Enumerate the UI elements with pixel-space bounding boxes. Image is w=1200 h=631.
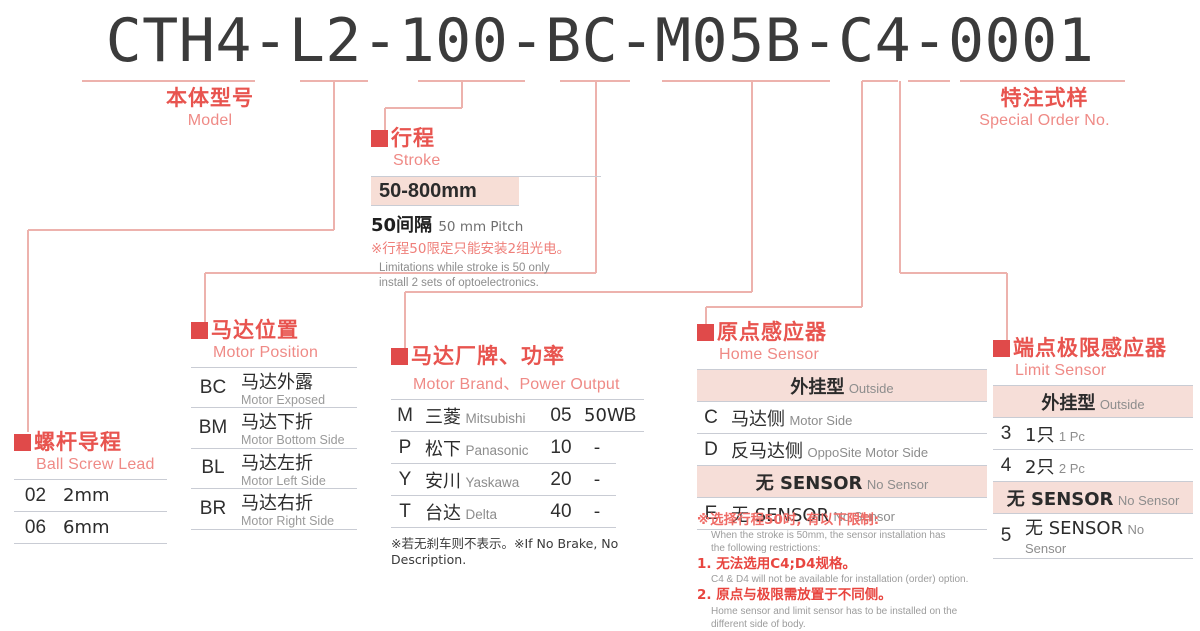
- brake-code-1: [616, 432, 644, 464]
- limit-sensor-group1-label: 外挂型 Outside: [993, 386, 1193, 418]
- home-sensor-value-1: 反马达侧 OppoSite Motor Side: [725, 434, 987, 466]
- home-sensor-group2-label: 无 SENSOR No Sensor: [697, 466, 987, 498]
- motor-brand-title-en: Motor Brand、Power Output: [413, 370, 661, 394]
- table-row: BR 马达右折 Motor Right Side: [191, 489, 357, 529]
- motor-brand-table: M 三菱 Mitsubishi 05 50W B P 松下 Panasonic …: [391, 399, 644, 528]
- stroke-title-cn: 行程: [391, 126, 435, 150]
- ball-screw-lead-code-1: 06: [14, 512, 57, 544]
- stroke-range: 50-800mm: [371, 177, 519, 206]
- code-segment-stroke: 100: [399, 6, 509, 76]
- motor-position-code-3: BR: [191, 489, 235, 529]
- home-sensor-note-2-cn: 2. 原点与极限需放置于不同侧。: [697, 587, 997, 605]
- stroke-pitch-en: 50 mm Pitch: [438, 219, 523, 235]
- block-motor-position: 马达位置 Motor Position BC 马达外露 Motor Expose…: [191, 320, 366, 530]
- motor-position-value-3: 马达右折 Motor Right Side: [235, 489, 357, 529]
- bullet-square-icon: [993, 340, 1010, 357]
- bullet-square-icon: [391, 348, 408, 365]
- bullet-square-icon: [371, 130, 388, 147]
- special-order-title-cn: 特注式样: [1001, 86, 1089, 110]
- limit-sensor-title-cn: 端点极限感应器: [1013, 336, 1167, 360]
- table-row: Y 安川 Yaskawa 20 -: [391, 464, 644, 496]
- motor-position-code-1: BM: [191, 408, 235, 448]
- ball-screw-lead-title: 螺杆导程: [14, 432, 179, 453]
- table-row: D 反马达侧 OppoSite Motor Side: [697, 434, 987, 466]
- home-sensor-title-en: Home Sensor: [719, 346, 997, 364]
- power-value-2: -: [578, 464, 616, 496]
- stroke-pitch-cn: 50间隔: [371, 215, 432, 236]
- block-limit-sensor: 端点极限感应器 Limit Sensor 外挂型 Outside 3 1只 1 …: [993, 338, 1200, 559]
- stroke-pitch: 50间隔 50 mm Pitch: [371, 211, 601, 237]
- home-sensor-note-title-cn: ※选择行程50时, 有以下限制:: [697, 512, 997, 529]
- stroke-note-en-line1: Limitations while stroke is 50 only: [379, 261, 601, 277]
- motor-position-value-2: 马达左折 Motor Left Side: [235, 448, 357, 488]
- stroke-title: 行程: [371, 128, 601, 149]
- code-segment-motor-position: BC: [545, 6, 618, 76]
- ball-screw-lead-code-0: 02: [14, 480, 57, 512]
- home-sensor-title-cn: 原点感应器: [717, 320, 827, 344]
- brake-code-3: [616, 496, 644, 528]
- motor-position-title-cn: 马达位置: [211, 318, 299, 342]
- code-segment-sensors: C4: [838, 6, 911, 76]
- power-value-3: -: [578, 496, 616, 528]
- brand-code-2: Y: [391, 464, 419, 496]
- home-sensor-code-1: D: [697, 434, 725, 466]
- code-separator: -: [508, 6, 545, 76]
- code-segment-lead: L2: [289, 6, 362, 76]
- code-segment-model: CTH4: [106, 6, 253, 76]
- stroke-note-cn: ※行程50限定只能安装2组光电。: [371, 241, 601, 259]
- code-separator: -: [618, 6, 655, 76]
- table-row: 06 6mm: [14, 512, 167, 544]
- limit-sensor-group-outside: 外挂型 Outside: [993, 386, 1193, 418]
- block-special-order: 特注式样 Special Order No.: [952, 88, 1137, 130]
- limit-sensor-value-1: 2只 2 Pc: [1019, 450, 1193, 482]
- brand-name-0: 三菱 Mitsubishi: [419, 400, 544, 432]
- motor-position-value-1: 马达下折 Motor Bottom Side: [235, 408, 357, 448]
- home-sensor-note-title-en: When the stroke is 50mm, the sensor inst…: [711, 529, 997, 555]
- code-segment-special-order: 0001: [948, 6, 1095, 76]
- limit-sensor-value-0: 1只 1 Pc: [1019, 418, 1193, 450]
- brand-name-2: 安川 Yaskawa: [419, 464, 544, 496]
- home-sensor-note-2-en: Home sensor and limit sensor has to be i…: [711, 605, 997, 631]
- limit-sensor-table: 外挂型 Outside 3 1只 1 Pc 4 2只 2 Pc: [993, 385, 1193, 559]
- table-row: 02 2mm: [14, 480, 167, 512]
- power-code-0: 05: [544, 400, 578, 432]
- model-title-cn: 本体型号: [166, 86, 254, 110]
- table-row: 3 1只 1 Pc: [993, 418, 1193, 450]
- ball-screw-lead-table: 02 2mm 06 6mm: [14, 479, 167, 544]
- table-row: BM 马达下折 Motor Bottom Side: [191, 408, 357, 448]
- home-sensor-notes: ※选择行程50时, 有以下限制: When the stroke is 50mm…: [697, 512, 997, 631]
- table-row: M 三菱 Mitsubishi 05 50W B: [391, 400, 644, 432]
- model-title: 本体型号: [120, 88, 300, 109]
- code-separator: -: [801, 6, 838, 76]
- block-model: 本体型号 Model: [120, 88, 300, 130]
- motor-position-table: BC 马达外露 Motor Exposed BM 马达下折 Motor Bott…: [191, 367, 357, 530]
- limit-sensor-group-nosensor: 无 SENSOR No Sensor: [993, 482, 1193, 514]
- special-order-title-en: Special Order No.: [952, 112, 1137, 130]
- brake-code-2: [616, 464, 644, 496]
- bullet-square-icon: [14, 434, 31, 451]
- table-row: C 马达侧 Motor Side: [697, 402, 987, 434]
- code-separator: -: [911, 6, 948, 76]
- motor-position-title: 马达位置: [191, 320, 366, 341]
- brand-code-1: P: [391, 432, 419, 464]
- power-code-2: 20: [544, 464, 578, 496]
- bullet-square-icon: [191, 322, 208, 339]
- home-sensor-group-outside: 外挂型 Outside: [697, 370, 987, 402]
- limit-sensor-code-2: 5: [993, 514, 1019, 559]
- model-title-en: Model: [120, 112, 300, 130]
- limit-sensor-value-2: 无 SENSOR No Sensor: [1019, 514, 1193, 559]
- code-separator: -: [362, 6, 399, 76]
- ball-screw-lead-value-0: 2mm: [57, 480, 167, 512]
- motor-position-code-0: BC: [191, 368, 235, 408]
- stroke-title-en: Stroke: [393, 152, 601, 170]
- stroke-note-en-line2: install 2 sets of optoelectronics.: [379, 276, 601, 292]
- motor-position-value-0: 马达外露 Motor Exposed: [235, 368, 357, 408]
- home-sensor-title: 原点感应器: [697, 322, 997, 343]
- home-sensor-note-1-cn: 1. 无法选用C4;D4规格。: [697, 556, 997, 574]
- table-row: T 台达 Delta 40 -: [391, 496, 644, 528]
- brand-name-3: 台达 Delta: [419, 496, 544, 528]
- table-row: BC 马达外露 Motor Exposed: [191, 368, 357, 408]
- limit-sensor-group2-label: 无 SENSOR No Sensor: [993, 482, 1193, 514]
- code-separator: -: [252, 6, 289, 76]
- home-sensor-note-1-en: C4 & D4 will not be available for instal…: [711, 573, 997, 586]
- stroke-note-en: Limitations while stroke is 50 only inst…: [379, 261, 601, 292]
- brand-name-1: 松下 Panasonic: [419, 432, 544, 464]
- bullet-square-icon: [697, 324, 714, 341]
- home-sensor-code-0: C: [697, 402, 725, 434]
- ball-screw-lead-title-cn: 螺杆导程: [34, 430, 122, 454]
- block-ball-screw-lead: 螺杆导程 Ball Screw Lead 02 2mm 06 6mm: [14, 432, 179, 544]
- limit-sensor-code-0: 3: [993, 418, 1019, 450]
- block-motor-brand-power: 马达厂牌、功率 Motor Brand、Power Output M 三菱 Mi…: [391, 346, 661, 567]
- home-sensor-group1-label: 外挂型 Outside: [697, 370, 987, 402]
- limit-sensor-title-en: Limit Sensor: [1015, 362, 1200, 380]
- home-sensor-value-0: 马达侧 Motor Side: [725, 402, 987, 434]
- ball-screw-lead-value-1: 6mm: [57, 512, 167, 544]
- motor-brand-title-cn: 马达厂牌、功率: [411, 344, 565, 368]
- brand-code-3: T: [391, 496, 419, 528]
- home-sensor-group-nosensor: 无 SENSOR No Sensor: [697, 466, 987, 498]
- table-row: BL 马达左折 Motor Left Side: [191, 448, 357, 488]
- table-row: 5 无 SENSOR No Sensor: [993, 514, 1193, 559]
- ordering-code-diagram: CTH4-L2-100-BC-M05B-C4-0001: [0, 0, 1200, 601]
- power-code-3: 40: [544, 496, 578, 528]
- special-order-title: 特注式样: [952, 88, 1137, 109]
- block-stroke: 行程 Stroke 50-800mm 50间隔 50 mm Pitch ※行程5…: [371, 128, 601, 292]
- table-row: 4 2只 2 Pc: [993, 450, 1193, 482]
- ball-screw-lead-title-en: Ball Screw Lead: [36, 456, 179, 474]
- block-home-sensor: 原点感应器 Home Sensor 外挂型 Outside C 马达侧 Moto…: [697, 322, 997, 530]
- table-row: P 松下 Panasonic 10 -: [391, 432, 644, 464]
- motor-position-code-2: BL: [191, 448, 235, 488]
- power-value-1: -: [578, 432, 616, 464]
- motor-brand-title: 马达厂牌、功率: [391, 346, 661, 367]
- motor-position-title-en: Motor Position: [213, 344, 366, 362]
- motor-brand-footnote: ※若无刹车则不表示。※If No Brake, No Description.: [391, 533, 661, 567]
- power-code-1: 10: [544, 432, 578, 464]
- home-sensor-table: 外挂型 Outside C 马达侧 Motor Side D 反马达侧 Oppo: [697, 369, 987, 530]
- limit-sensor-code-1: 4: [993, 450, 1019, 482]
- model-code: CTH4-L2-100-BC-M05B-C4-0001: [0, 6, 1200, 76]
- brand-code-0: M: [391, 400, 419, 432]
- power-value-0: 50W: [578, 400, 616, 432]
- code-segment-motor-brand: M05B: [655, 6, 802, 76]
- limit-sensor-title: 端点极限感应器: [993, 338, 1200, 359]
